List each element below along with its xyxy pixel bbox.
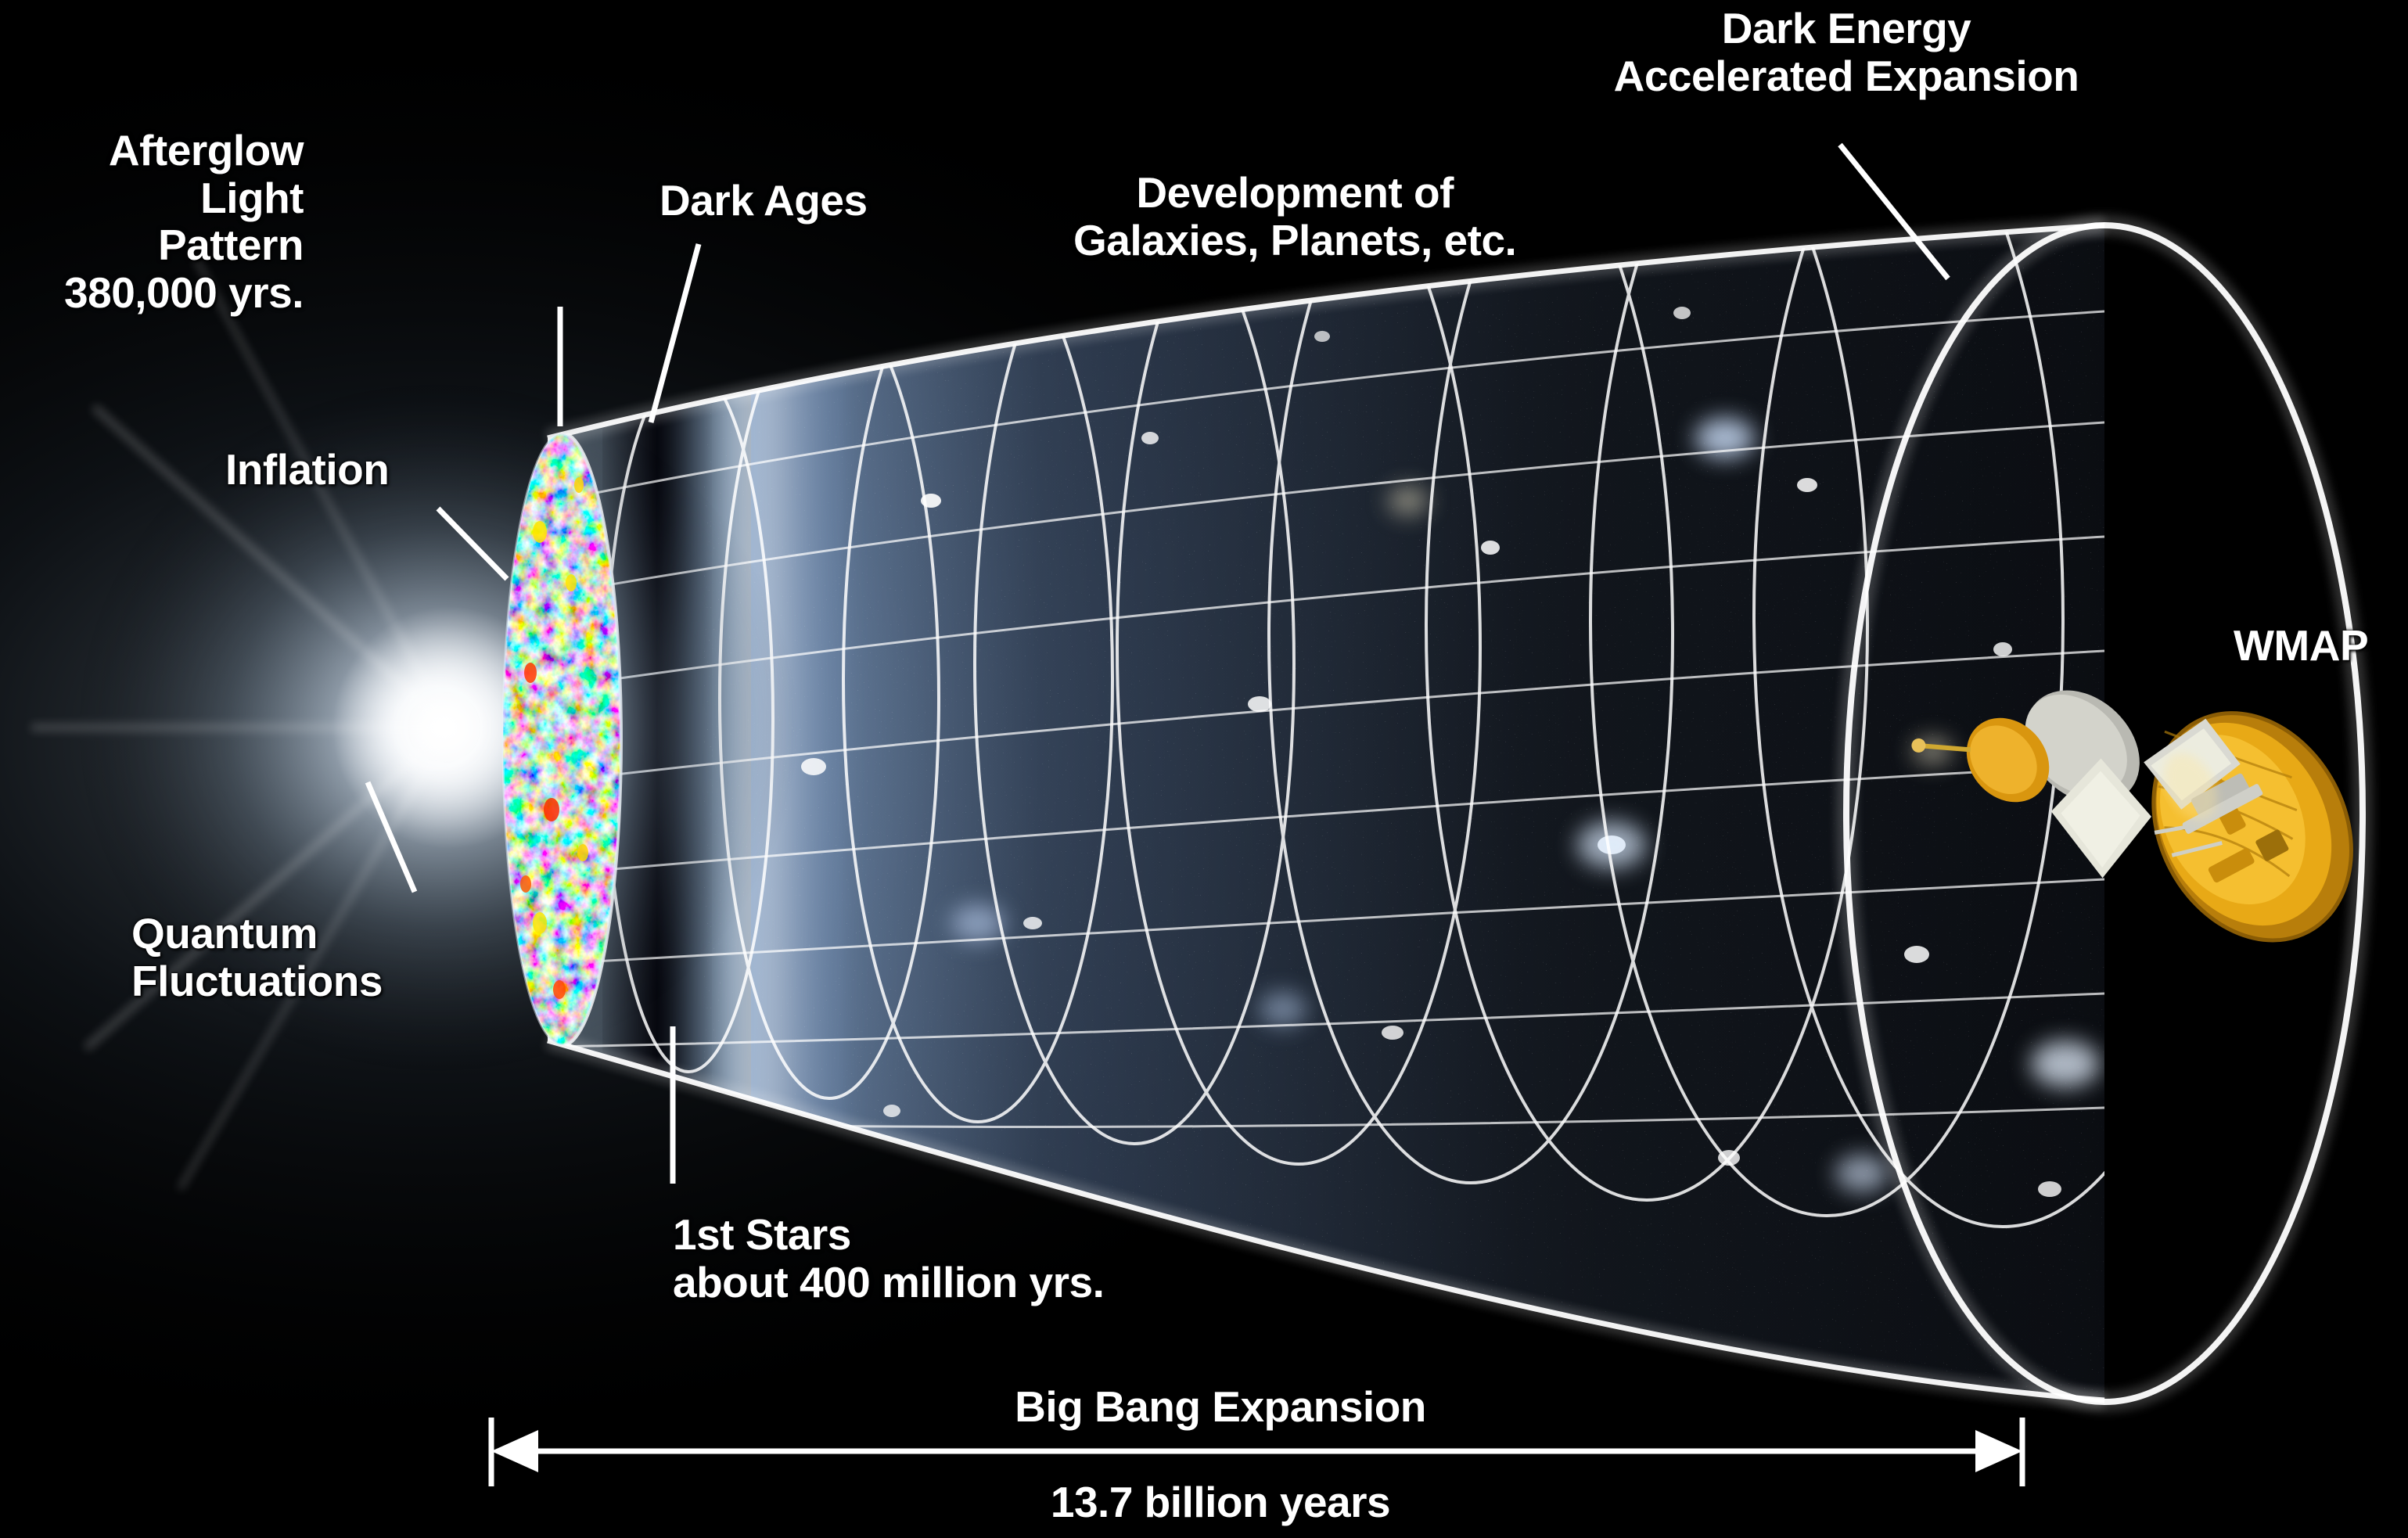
cone-illustration xyxy=(0,0,2408,1538)
universe-timeline-figure: Afterglow Light Pattern 380,000 yrs. Inf… xyxy=(0,0,2408,1538)
scene-artwork xyxy=(0,0,2408,1538)
